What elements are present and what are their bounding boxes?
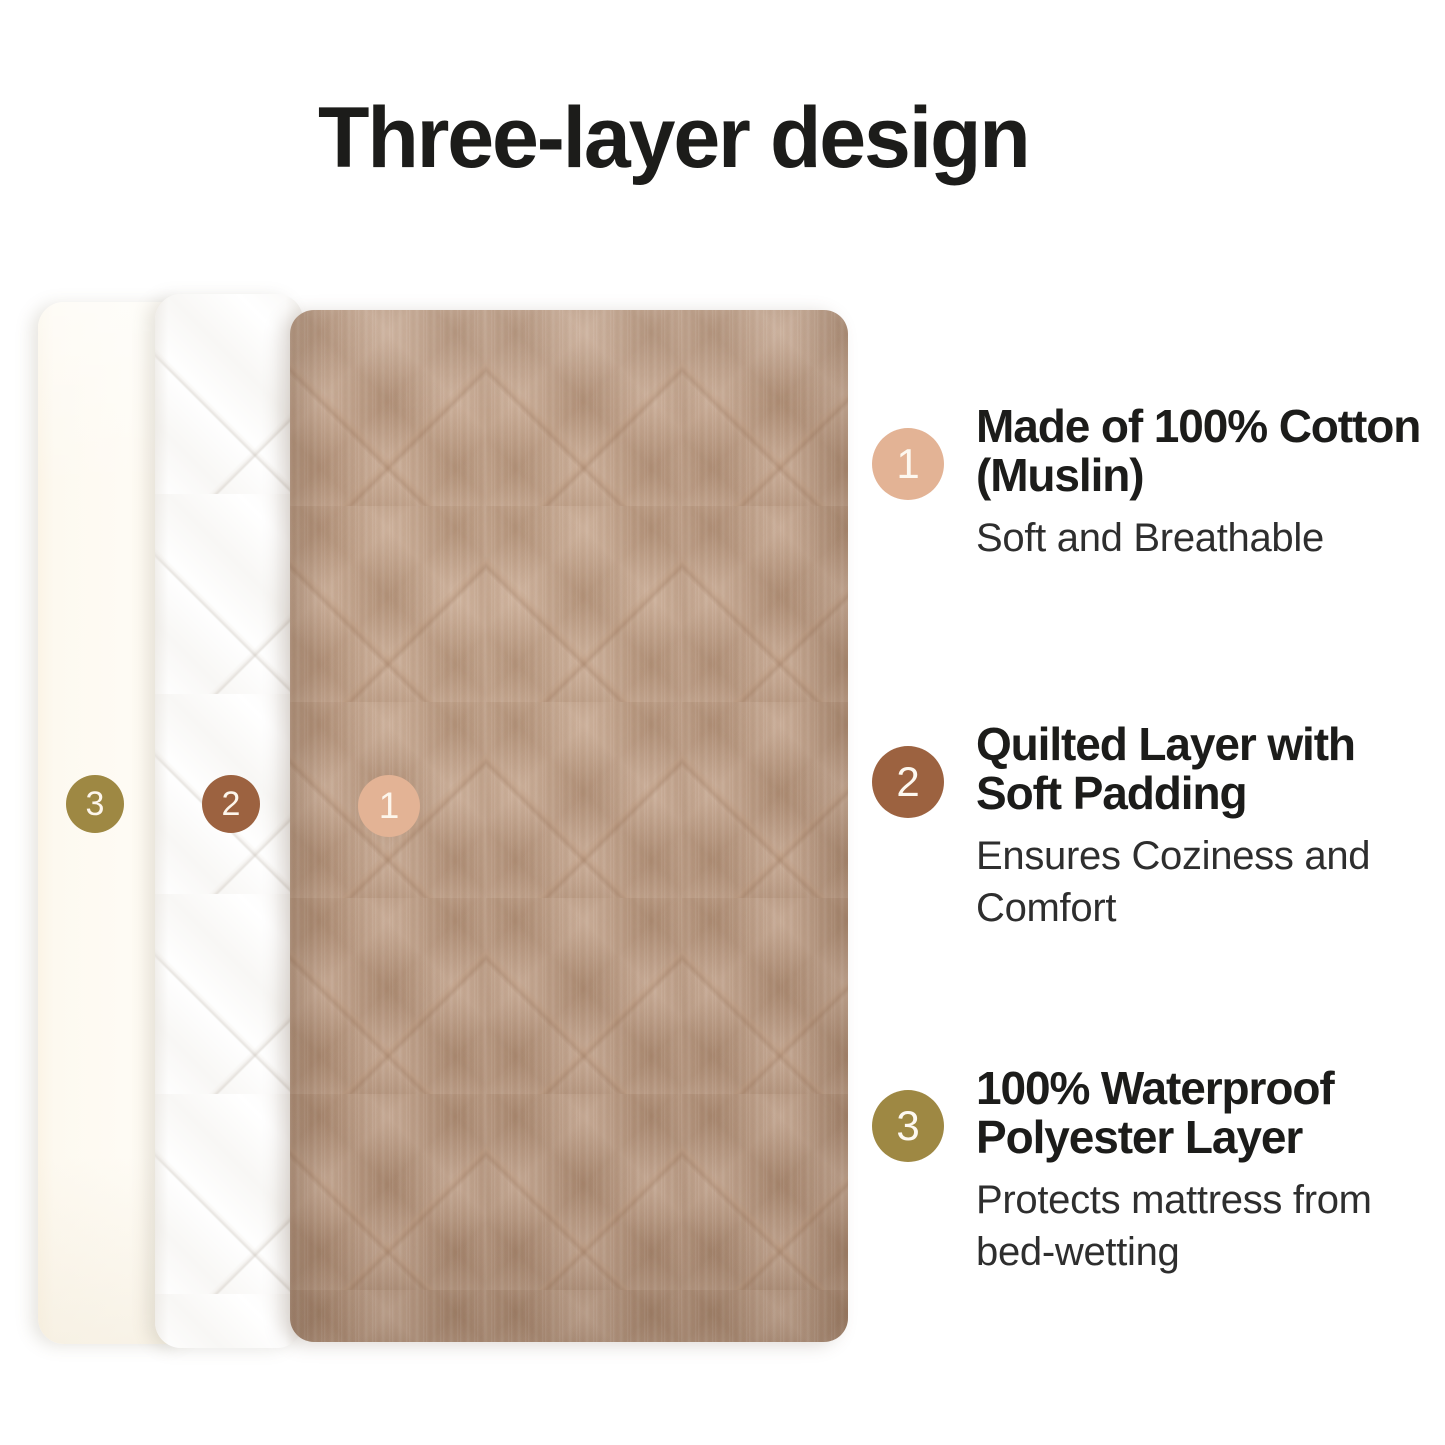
- feature-badge-3: 3: [872, 1090, 944, 1162]
- layer-badge-1: 1: [358, 775, 420, 837]
- feature-item-3: 3 100% Waterproof Polyester Layer Protec…: [872, 1062, 1442, 1278]
- feature-subtext-2: Ensures Coziness and Comfort: [976, 830, 1442, 934]
- feature-text-2: Quilted Layer with Soft Padding Ensures …: [976, 718, 1442, 934]
- feature-badge-2: 2: [872, 746, 944, 818]
- feature-heading-2: Quilted Layer with Soft Padding: [976, 720, 1442, 818]
- infographic-canvas: Three-layer design 3 2 1 1 Made of 100% …: [0, 0, 1445, 1445]
- layer-badge-3: 3: [66, 775, 124, 833]
- feature-text-3: 100% Waterproof Polyester Layer Protects…: [976, 1062, 1442, 1278]
- feature-subtext-1: Soft and Breathable: [976, 512, 1442, 564]
- product-layer-stack: 3 2 1: [0, 280, 900, 1370]
- feature-heading-3: 100% Waterproof Polyester Layer: [976, 1064, 1442, 1162]
- feature-heading-1: Made of 100% Cotton (Muslin): [976, 402, 1442, 500]
- feature-badge-1: 1: [872, 428, 944, 500]
- feature-item-1: 1 Made of 100% Cotton (Muslin) Soft and …: [872, 400, 1442, 564]
- feature-text-1: Made of 100% Cotton (Muslin) Soft and Br…: [976, 400, 1442, 564]
- feature-item-2: 2 Quilted Layer with Soft Padding Ensure…: [872, 718, 1442, 934]
- feature-subtext-3: Protects mattress from bed-wetting: [976, 1174, 1442, 1278]
- layer-badge-2: 2: [202, 775, 260, 833]
- page-title: Three-layer design: [318, 95, 1200, 181]
